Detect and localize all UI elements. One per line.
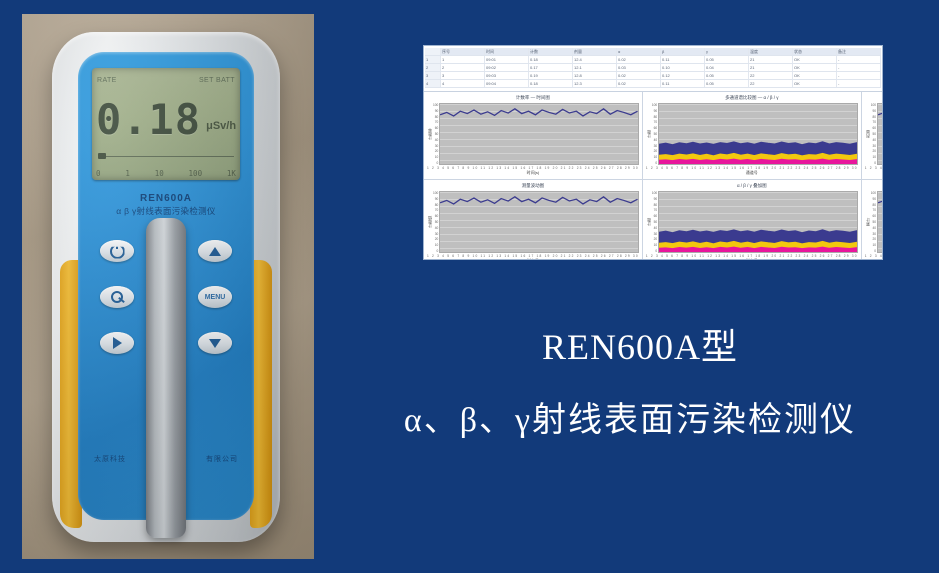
chart-body: 累计1009080706050403020100 <box>865 191 883 253</box>
table-cell: 0.05 <box>705 72 749 79</box>
table-cell: OK <box>793 56 837 63</box>
chart-y-tick: 20 <box>871 237 876 241</box>
table-cell: 09:02 <box>485 64 529 71</box>
chart-y-tick: 90 <box>433 197 438 201</box>
chart-y-axis-label: 计数率 <box>427 128 433 140</box>
chart-y-tick: 50 <box>652 132 657 136</box>
table-cell: 0.03 <box>617 64 661 71</box>
table-cell: 09:04 <box>485 80 529 87</box>
data-table: 序号时间计数剂量αβγ温度状态备注1109:010.1812.40.020.11… <box>424 46 882 92</box>
chart-panel: 剂量率曲线剂量10090807060504030201001 2 3 4 5 6… <box>862 92 883 180</box>
table-cell: 0.19 <box>529 72 573 79</box>
table-row: 3309:030.1912.80.020.120.0522OK- <box>425 72 881 80</box>
chart-title: α / β / γ 叠加图 <box>646 183 858 189</box>
chart-y-tick: 100 <box>652 103 657 107</box>
chart-y-tick: 0 <box>652 249 657 253</box>
handheld-device: RATE SET BATT 0.18 μSv/h 0 1 10 100 <box>52 32 280 542</box>
table-cell: OK <box>793 64 837 71</box>
table-row: 1109:010.1812.40.020.110.0521OK- <box>425 56 881 64</box>
table-cell: 12.4 <box>573 56 617 63</box>
play-icon <box>113 337 122 349</box>
chart-y-tick: 70 <box>433 208 438 212</box>
chart-y-tick: 10 <box>652 243 657 247</box>
chart-y-tick: 10 <box>871 155 876 159</box>
table-cell: 0.18 <box>529 80 573 87</box>
chart-y-tick: 20 <box>652 149 657 153</box>
chart-y-tick: 0 <box>433 249 438 253</box>
table-header-cell: 计数 <box>529 48 573 55</box>
table-cell: OK <box>793 72 837 79</box>
power-icon <box>110 244 125 259</box>
table-header-cell: 温度 <box>749 48 793 55</box>
chart-x-ticks: 1 2 3 4 5 6 7 8 9 10 11 12 13 14 15 16 1… <box>865 166 883 170</box>
table-header-cell: 备注 <box>837 48 881 55</box>
table-cell: - <box>837 56 881 63</box>
chart-y-tick: 60 <box>871 126 876 130</box>
table-cell: OK <box>793 80 837 87</box>
chart-y-tick: 60 <box>871 214 876 218</box>
table-cell: 0.18 <box>529 56 573 63</box>
up-button[interactable] <box>198 240 232 262</box>
footer-right-label: 有限公司 <box>206 454 238 464</box>
chart-y-tick: 40 <box>652 138 657 142</box>
table-cell: 22 <box>749 72 793 79</box>
chart-y-tick: 50 <box>871 220 876 224</box>
play-button[interactable] <box>100 332 134 354</box>
power-button[interactable] <box>100 240 134 262</box>
chart-y-tick: 20 <box>652 237 657 241</box>
chart-panel: α / β / γ 叠加图β计数α计数γ计数计数1009080706050403… <box>643 180 862 260</box>
chart-y-axis-label: 计数值 <box>427 216 433 228</box>
chart-y-tick: 40 <box>652 226 657 230</box>
chart-body: 计数1009080706050403020100 <box>646 191 858 253</box>
software-screenshot: 序号时间计数剂量αβγ温度状态备注1109:010.1812.40.020.11… <box>423 45 883 260</box>
device-type-label: α β γ射线表面污染检测仪 <box>78 206 254 217</box>
table-header-row: 序号时间计数剂量αβγ温度状态备注 <box>425 48 881 56</box>
table-cell: 0.11 <box>661 80 705 87</box>
table-cell: 0.05 <box>705 80 749 87</box>
chart-y-tick: 50 <box>652 220 657 224</box>
lcd-status-right: SET BATT <box>199 77 235 84</box>
chart-body: 计数1009080706050403020100 <box>646 103 858 165</box>
chart-title: 累计计数图 <box>865 183 883 189</box>
chart-body: 计数值1009080706050403020100 <box>427 191 639 253</box>
footer-left-label: 太原科技 <box>94 454 126 464</box>
table-header-cell: β <box>661 48 705 55</box>
chart-y-tick: 0 <box>433 161 438 165</box>
table-cell: 12.8 <box>573 72 617 79</box>
lcd-bargraph-fill <box>98 153 106 159</box>
chart-y-tick: 70 <box>652 120 657 124</box>
lcd-scale-tick: 100 <box>189 169 203 178</box>
lcd-scale-tick: 0 <box>96 169 101 178</box>
lcd-scale-tick: 10 <box>155 169 164 178</box>
chart-panel: 多通道谱比较图 — α / β / γα通道β通道γ通道总计数本底计数10090… <box>643 92 862 180</box>
table-cell: - <box>837 72 881 79</box>
chart-plot-area <box>658 103 858 165</box>
table-row-index: 2 <box>425 64 441 71</box>
table-header-cell: 状态 <box>793 48 837 55</box>
chart-y-tick: 30 <box>871 232 876 236</box>
chart-y-tick: 50 <box>871 132 876 136</box>
table-cell: 0.17 <box>529 64 573 71</box>
chart-x-axis-label: 样本号 <box>427 258 639 260</box>
chart-x-axis-label: 通道号 <box>646 170 858 176</box>
table-row-index: 1 <box>425 56 441 63</box>
table-row: 2209:020.1712.10.030.100.0421OK- <box>425 64 881 72</box>
chevron-up-icon <box>209 247 221 256</box>
chart-y-tick: 60 <box>433 126 438 130</box>
lcd-value: 0.18 <box>96 95 201 144</box>
chart-y-axis-label: 累计 <box>865 218 871 226</box>
lcd-reading: 0.18 μSv/h <box>92 90 240 148</box>
chart-y-tick: 90 <box>871 197 876 201</box>
chart-y-tick: 30 <box>652 232 657 236</box>
chart-x-ticks: 1 2 3 4 5 6 7 8 9 10 11 12 13 14 15 16 1… <box>865 254 883 258</box>
table-cell: 12.3 <box>573 80 617 87</box>
table-header-cell: 序号 <box>441 48 485 55</box>
chart-series-svg <box>440 104 638 164</box>
chart-y-tick: 70 <box>433 120 438 124</box>
chart-series-svg <box>659 104 857 164</box>
lcd-scale: 0 1 10 100 1K <box>96 169 236 178</box>
device-photo: RATE SET BATT 0.18 μSv/h 0 1 10 100 <box>22 14 314 559</box>
chart-series-svg <box>440 192 638 252</box>
table-cell: 3 <box>441 72 485 79</box>
chart-y-tick: 100 <box>433 191 438 195</box>
title-block: REN600A型 α、β、γ射线表面污染检测仪 <box>330 318 930 441</box>
device-model-label: REN600A <box>78 192 254 206</box>
chart-y-axis-label: 剂量 <box>865 130 871 138</box>
table-cell: 21 <box>749 64 793 71</box>
chart-y-tick: 80 <box>433 203 438 207</box>
table-header-cell: 剂量 <box>573 48 617 55</box>
chart-series-svg <box>878 104 883 164</box>
chart-y-tick: 40 <box>871 226 876 230</box>
chart-y-tick: 10 <box>871 243 876 247</box>
chart-panel: 累计计数图累计10090807060504030201001 2 3 4 5 6… <box>862 180 883 260</box>
chart-y-tick: 30 <box>433 144 438 148</box>
product-model-title: REN600A型 <box>350 318 930 370</box>
chart-y-tick: 60 <box>433 214 438 218</box>
chart-y-tick: 100 <box>871 103 876 107</box>
chart-x-axis-label: 样本号 <box>646 258 858 260</box>
table-row: 4409:040.1812.30.020.110.0522OK- <box>425 80 881 88</box>
slide-root: RATE SET BATT 0.18 μSv/h 0 1 10 100 <box>0 0 939 573</box>
chart-y-tick: 40 <box>871 138 876 142</box>
table-cell: - <box>837 80 881 87</box>
chart-y-tick: 80 <box>652 203 657 207</box>
lcd-status-left: RATE <box>97 77 117 84</box>
down-button[interactable] <box>198 332 232 354</box>
device-brand-plate: REN600A α β γ射线表面污染检测仪 <box>78 192 254 217</box>
chart-plot-area <box>658 191 858 253</box>
search-icon <box>111 291 124 304</box>
chart-y-tick: 40 <box>433 226 438 230</box>
table-row-index: 4 <box>425 80 441 87</box>
chart-body: 计数率1009080706050403020100 <box>427 103 639 165</box>
chart-y-tick: 90 <box>652 109 657 113</box>
chart-y-axis-label: 计数 <box>646 218 652 226</box>
chart-y-tick: 20 <box>871 149 876 153</box>
lcd-screen: RATE SET BATT 0.18 μSv/h 0 1 10 100 <box>92 68 240 180</box>
table-cell: 1 <box>441 56 485 63</box>
lcd-scale-tick: 1K <box>227 169 236 178</box>
chart-plot-area <box>877 191 883 253</box>
chart-y-tick: 80 <box>871 203 876 207</box>
chart-y-tick: 60 <box>652 126 657 130</box>
chart-x-axis-label: 时间(s) <box>427 170 639 176</box>
chart-y-axis-label: 计数 <box>646 130 652 138</box>
chart-y-tick: 50 <box>433 132 438 136</box>
chart-y-tick: 100 <box>871 191 876 195</box>
table-cell: 09:01 <box>485 56 529 63</box>
table-cell: 0.12 <box>661 72 705 79</box>
chart-y-tick: 10 <box>433 155 438 159</box>
table-cell: 12.1 <box>573 64 617 71</box>
table-cell: 09:03 <box>485 72 529 79</box>
table-header-cell: 时间 <box>485 48 529 55</box>
chart-y-tick: 80 <box>652 115 657 119</box>
chart-y-tick: 80 <box>871 115 876 119</box>
chart-y-tick: 60 <box>652 214 657 218</box>
chart-plot-area <box>877 103 883 165</box>
chart-x-axis-label: 时间(s) <box>865 258 883 260</box>
table-cell: 0.05 <box>705 56 749 63</box>
chart-y-tick: 0 <box>871 161 876 165</box>
lcd-scale-tick: 1 <box>125 169 130 178</box>
lcd-unit: μSv/h <box>206 120 236 132</box>
lcd-status-row: RATE SET BATT <box>97 72 235 88</box>
chart-y-tick: 30 <box>433 232 438 236</box>
chart-title: 剂量率曲线 <box>865 95 883 101</box>
chart-grid: 计数率 — 时间图计数率10090807060504030201001 2 3 … <box>424 92 882 258</box>
table-row-index: 3 <box>425 72 441 79</box>
chart-y-tick: 90 <box>433 109 438 113</box>
search-button[interactable] <box>100 286 134 308</box>
table-header-cell: γ <box>705 48 749 55</box>
table-cell: 21 <box>749 56 793 63</box>
table-cell: 0.04 <box>705 64 749 71</box>
chart-y-tick: 30 <box>652 144 657 148</box>
chart-y-tick: 80 <box>433 115 438 119</box>
chart-body: 剂量1009080706050403020100 <box>865 103 883 165</box>
chart-x-axis-label: 时间(s) <box>865 170 883 176</box>
table-cell: 0.11 <box>661 56 705 63</box>
chart-y-tick: 40 <box>433 138 438 142</box>
chart-y-tick: 30 <box>871 144 876 148</box>
chart-title: 测量波动图 <box>427 183 639 189</box>
table-cell: 0.02 <box>617 80 661 87</box>
table-cell: 0.02 <box>617 72 661 79</box>
chart-y-tick: 10 <box>652 155 657 159</box>
chart-y-tick: 90 <box>652 197 657 201</box>
chart-panel: 测量波动图计数值10090807060504030201001 2 3 4 5 … <box>424 180 643 260</box>
table-cell: 0.10 <box>661 64 705 71</box>
chart-series-svg <box>878 192 883 252</box>
chart-y-tick: 50 <box>433 220 438 224</box>
chart-y-tick: 70 <box>871 208 876 212</box>
chart-y-tick: 20 <box>433 237 438 241</box>
product-description-title: α、β、γ射线表面污染检测仪 <box>330 392 930 441</box>
table-cell: 0.02 <box>617 56 661 63</box>
table-row-index <box>425 48 441 55</box>
chart-y-tick: 90 <box>871 109 876 113</box>
chart-title: 多通道谱比较图 — α / β / γ <box>646 95 858 101</box>
table-cell: 2 <box>441 64 485 71</box>
chart-series-svg <box>659 192 857 252</box>
chart-plot-area <box>439 191 639 253</box>
table-header-cell: α <box>617 48 661 55</box>
chart-y-tick: 0 <box>652 161 657 165</box>
lcd-bargraph <box>98 156 234 163</box>
table-cell: 22 <box>749 80 793 87</box>
chart-y-tick: 100 <box>652 191 657 195</box>
chart-y-tick: 100 <box>433 103 438 107</box>
chart-y-tick: 20 <box>433 149 438 153</box>
chart-y-tick: 70 <box>871 120 876 124</box>
chart-y-tick: 10 <box>433 243 438 247</box>
table-cell: 4 <box>441 80 485 87</box>
chevron-down-icon <box>209 339 221 348</box>
chart-plot-area <box>439 103 639 165</box>
chart-title: 计数率 — 时间图 <box>427 95 639 101</box>
menu-button[interactable]: MENU <box>198 286 232 308</box>
chart-y-tick: 0 <box>871 249 876 253</box>
table-cell: - <box>837 64 881 71</box>
chart-y-tick: 70 <box>652 208 657 212</box>
chart-panel: 计数率 — 时间图计数率10090807060504030201001 2 3 … <box>424 92 643 180</box>
hand-strap <box>146 218 186 538</box>
